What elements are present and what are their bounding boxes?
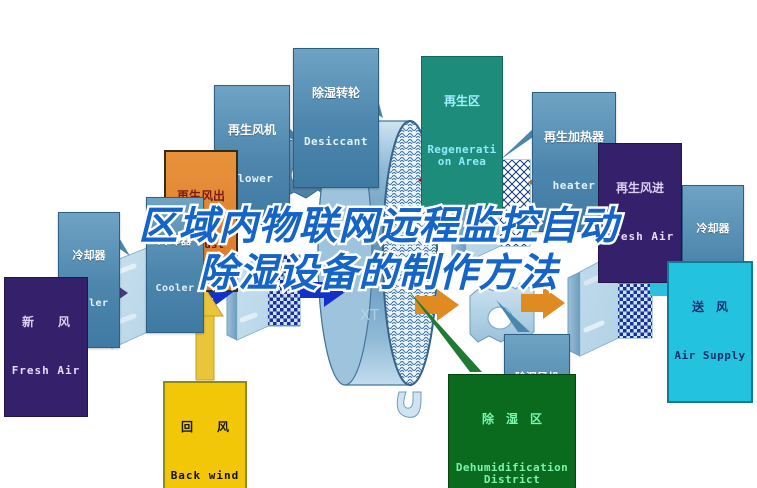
label-regeneration-area-cn: 再生区 [427,95,497,108]
label-air-supply-cn: 送 风 [674,301,746,314]
label-fresh-air-right-en: Fresh Air [604,231,676,243]
label-fresh-air-left[interactable]: 新 风 Fresh Air [4,277,88,417]
label-regeneration-area-en: Regenerati on Area [427,144,497,169]
label-fresh-air-left-en: Fresh Air [10,365,82,377]
label-air-supply[interactable]: 送 风 Air Supply [667,261,753,403]
label-regeneration-area[interactable]: 再生区 Regenerati on Area [421,56,503,209]
label-back-wind[interactable]: 回 风 Back wind [163,381,247,488]
diagram-canvas: XT [0,0,757,488]
label-desiccant-rotor-cn: 除湿转轮 [299,87,373,100]
label-desiccant-rotor-en: Desiccant [299,136,373,148]
label-dehumidification-district[interactable]: 除 湿 区 Dehumidification District [448,374,576,488]
watermark-text: XT [360,306,380,324]
label-dehumidification-district-cn: 除 湿 区 [454,413,570,426]
label-back-wind-cn: 回 风 [170,421,240,434]
label-air-supply-en: Air Supply [674,350,746,362]
label-cooler-left-upper-cn: 冷却器 [150,235,200,247]
label-cooler-left-upper[interactable]: 冷却器 Cooler [146,197,204,333]
label-dehumidification-district-en: Dehumidification District [454,462,570,487]
label-cooler-left-lower-cn: 冷却器 [62,250,116,262]
label-fresh-air-right-cn: 再生风进 [604,182,676,195]
label-fresh-air-left-cn: 新 风 [10,316,82,329]
label-desiccant-rotor[interactable]: 除湿转轮 Desiccant [293,48,379,188]
label-cooler-left-upper-en: Cooler [150,283,200,294]
label-cooler-right-cn: 冷却器 [686,223,740,235]
label-back-wind-en: Back wind [170,470,240,482]
label-regeneration-blower-cn: 再生风机 [220,124,284,137]
